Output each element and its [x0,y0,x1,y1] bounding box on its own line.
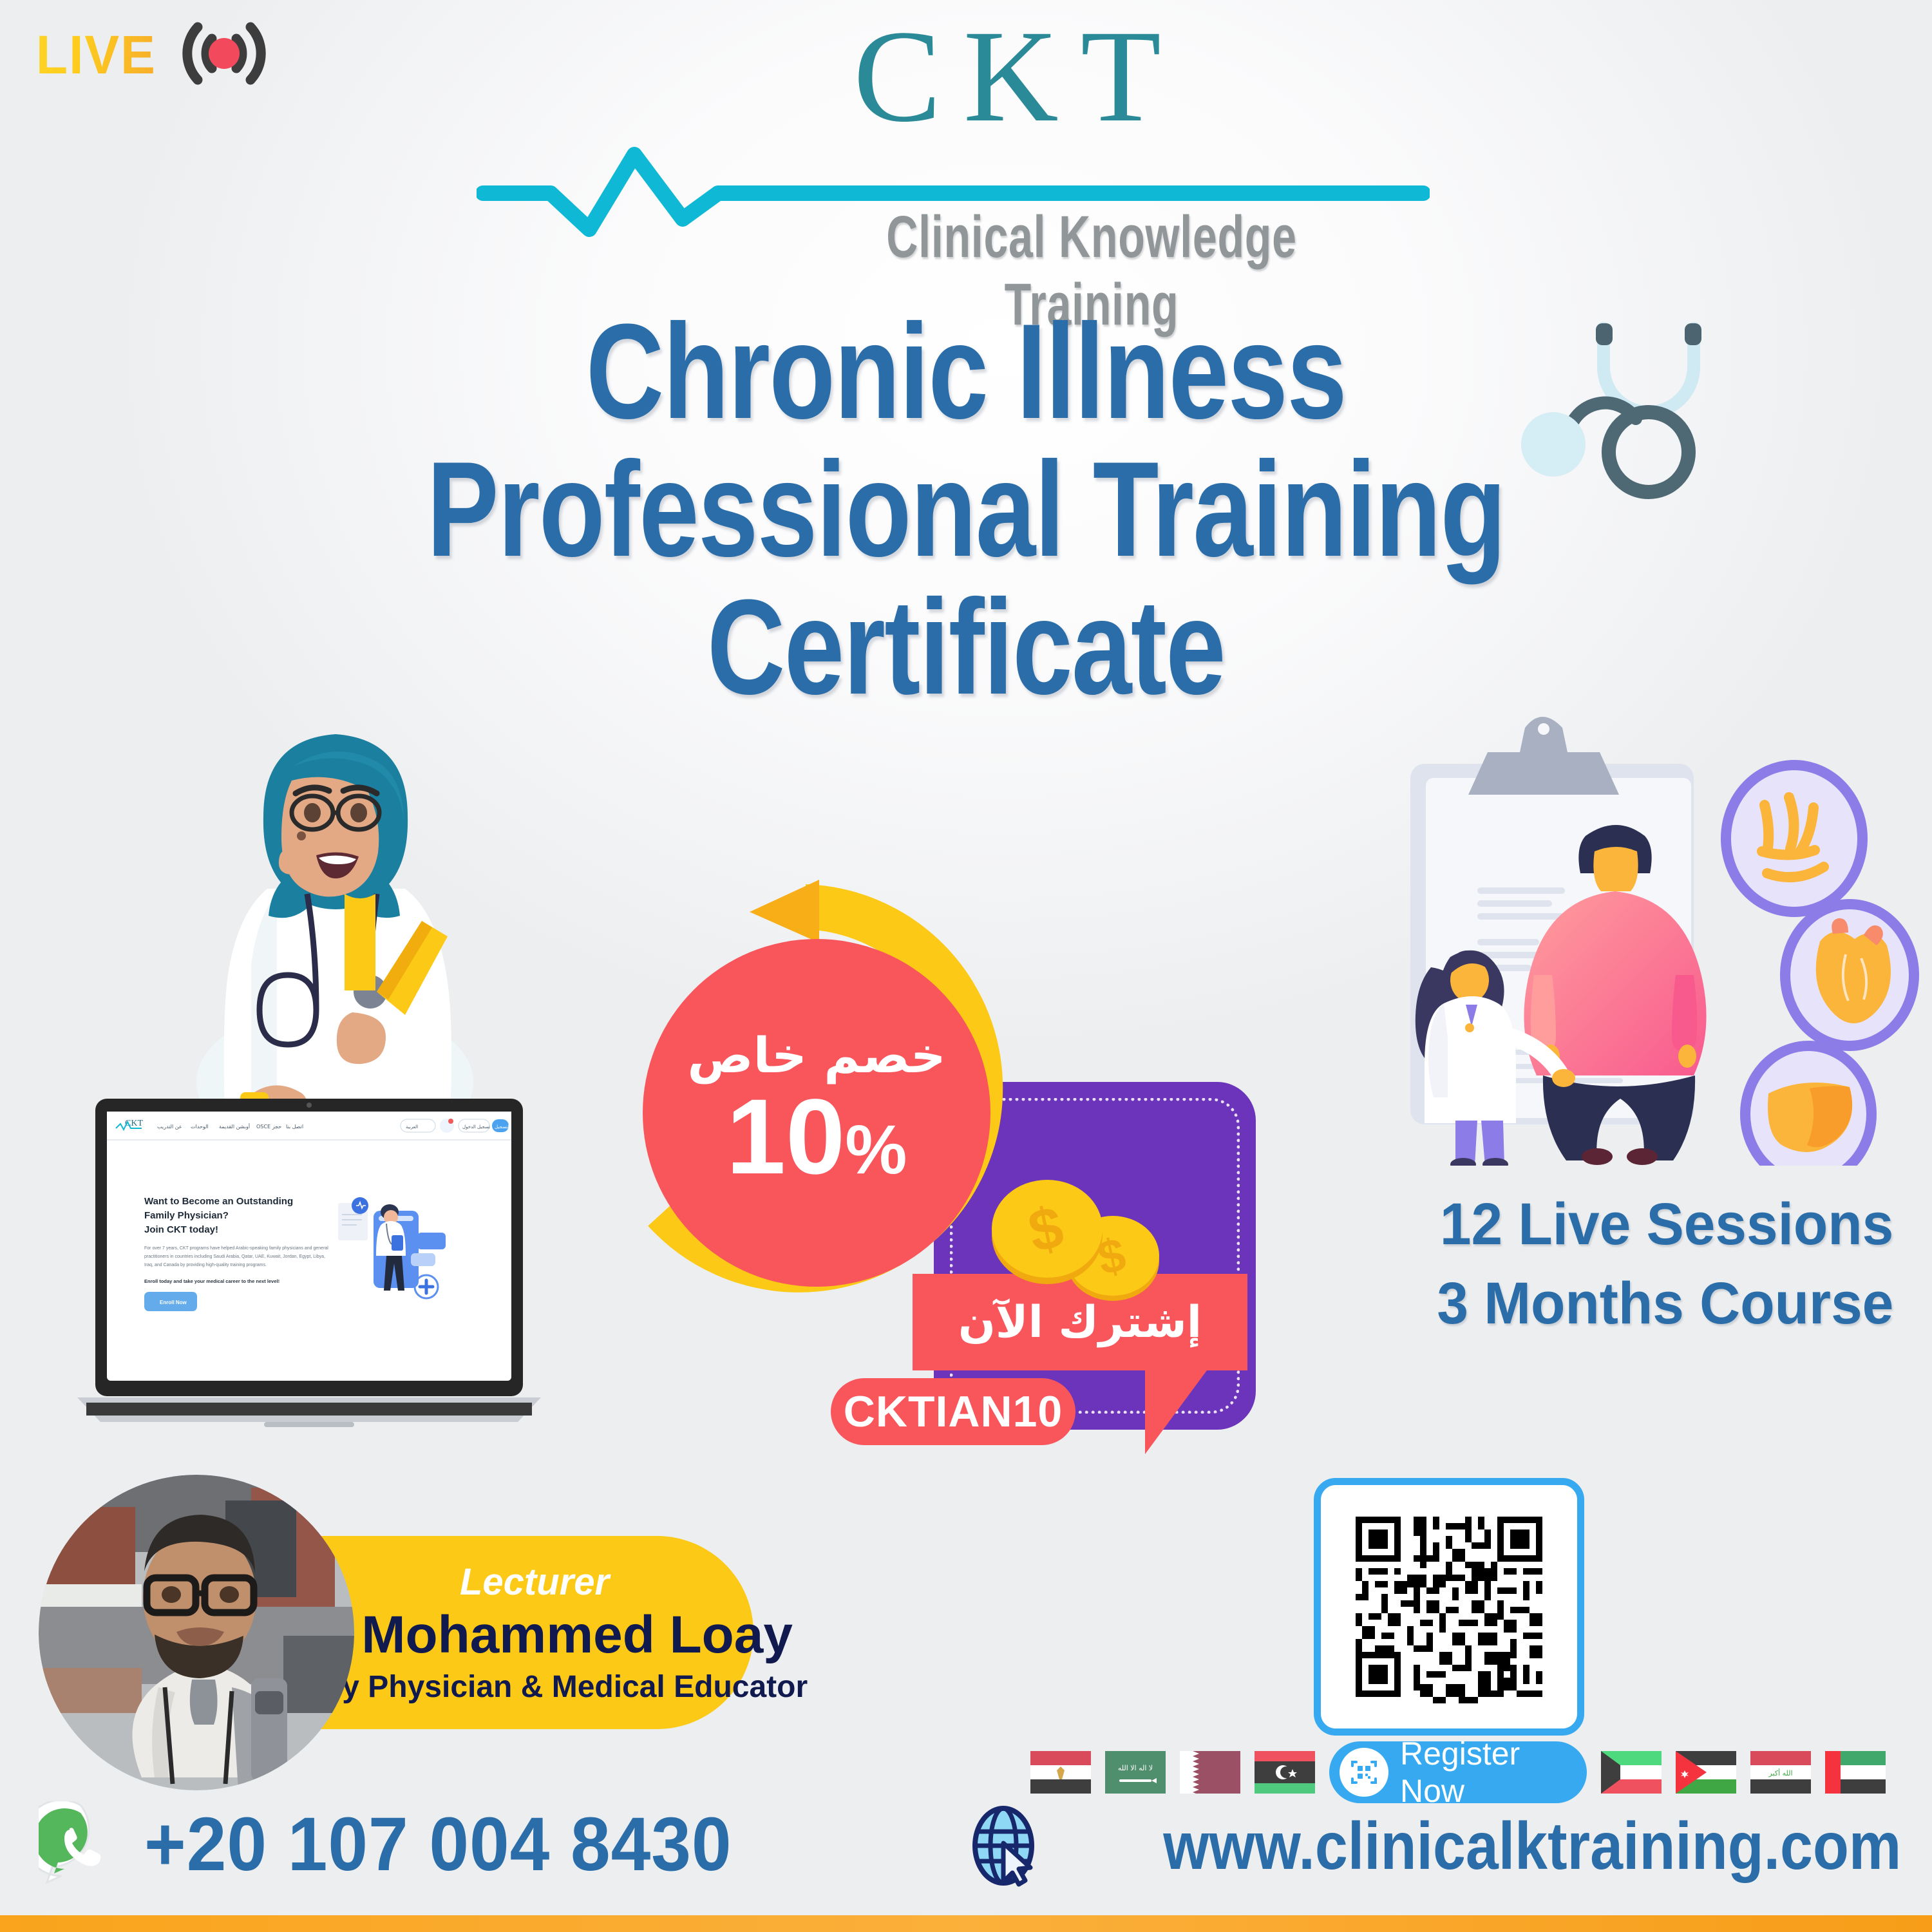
logo-letters: CKT [853,10,1183,142]
website-contact[interactable]: www.clinicalktraining.com [966,1803,1901,1890]
promo-code-pill[interactable]: CKTIAN10 [831,1378,1075,1445]
female-doctor-illustration [184,721,493,1137]
sessions-count: 12 Live Sessions [1437,1185,1893,1264]
svg-text:العربية: العربية [406,1124,418,1130]
svg-text:أوبشن القديمة: أوبشن القديمة [219,1123,250,1130]
promo-code-label: CKTIAN10 [844,1387,1063,1437]
ckt-logo: CKT Clinical Knowledge Training [477,10,1430,281]
qr-code[interactable] [1314,1478,1584,1736]
avatar [39,1475,354,1790]
contact-bar: +20 107 004 8430 www.clinicalktraining.c… [0,1784,1932,1932]
website-url: www.clinicalktraining.com [1163,1808,1901,1885]
svg-text:تسجيل الدخول: تسجيل الدخول [462,1124,490,1130]
stethoscope-icon [1507,322,1739,518]
clipboard-patient-illustration [1359,702,1926,1169]
svg-text:Want to Become an Outstanding: Want to Become an Outstanding [144,1196,293,1207]
globe-cursor-icon [966,1803,1043,1890]
svg-text:التسجيل: التسجيل [495,1124,510,1130]
discount-circle: خصم خاص 10 % [643,939,990,1287]
svg-text:Enroll Now: Enroll Now [160,1300,187,1305]
svg-text:Join CKT today!: Join CKT today! [144,1224,218,1235]
svg-text:اتصل بنا: اتصل بنا [286,1124,303,1130]
svg-text:OSCE حجز: OSCE حجز [256,1124,281,1130]
svg-text:Family Physician?: Family Physician? [144,1210,229,1221]
flyer-canvas: LIVE CKT Clinical Knowledge Training Chr… [0,0,1932,1932]
live-label: LIVE [36,24,156,86]
live-badge: LIVE [33,18,272,92]
svg-text:For over 7 years, CKT programs: For over 7 years, CKT programs have help… [144,1246,328,1251]
broadcast-icon [176,18,272,92]
svg-text:Enroll today and take your med: Enroll today and take your medical caree… [144,1278,279,1284]
discount-badge: $ $ خصم خاص 10 % إشترك الآن CKTIAN10 [599,889,1282,1423]
svg-text:الله أكبر: الله أكبر [1768,1768,1792,1777]
lecturer-role: Lecturer [460,1560,609,1604]
whatsapp-contact[interactable]: +20 107 004 8430 [39,1801,770,1888]
svg-text:عن التدريب: عن التدريب [157,1124,182,1130]
svg-text:الوحدات: الوحدات [191,1124,209,1130]
ribbon-tail [1145,1370,1207,1454]
discount-number: 10 [726,1086,846,1188]
lecturer-block: Lecturer Dr. Mohammed Loay Family Physic… [39,1468,908,1739]
dollar-coin-icon: $ $ [985,1159,1179,1311]
phone-number: +20 107 004 8430 [144,1801,732,1888]
svg-text:Iraq, and Canada by providing: Iraq, and Canada by providing high-quali… [144,1263,267,1267]
laptop-mockup: CKT عن التدريب الوحدات أوبشن القديمة OSC… [71,1095,547,1443]
course-duration: 3 Months Course [1437,1264,1893,1343]
course-info: 12 Live Sessions 3 Months Course [1413,1185,1893,1344]
title-line-3: Certificate [193,578,1739,716]
percent-symbol: % [845,1117,907,1183]
discount-arabic-label: خصم خاص [687,1027,945,1084]
discount-percent: 10 % [726,1086,907,1188]
svg-text:لا اله الا الله: لا اله الا الله [1118,1764,1153,1772]
svg-text:practitioners in countries inc: practitioners in countries including Sau… [144,1255,325,1259]
page-title: Chronic Illness Professional Training Ce… [0,303,1932,717]
bottom-stripe [0,1915,1932,1932]
whatsapp-icon [39,1801,122,1888]
